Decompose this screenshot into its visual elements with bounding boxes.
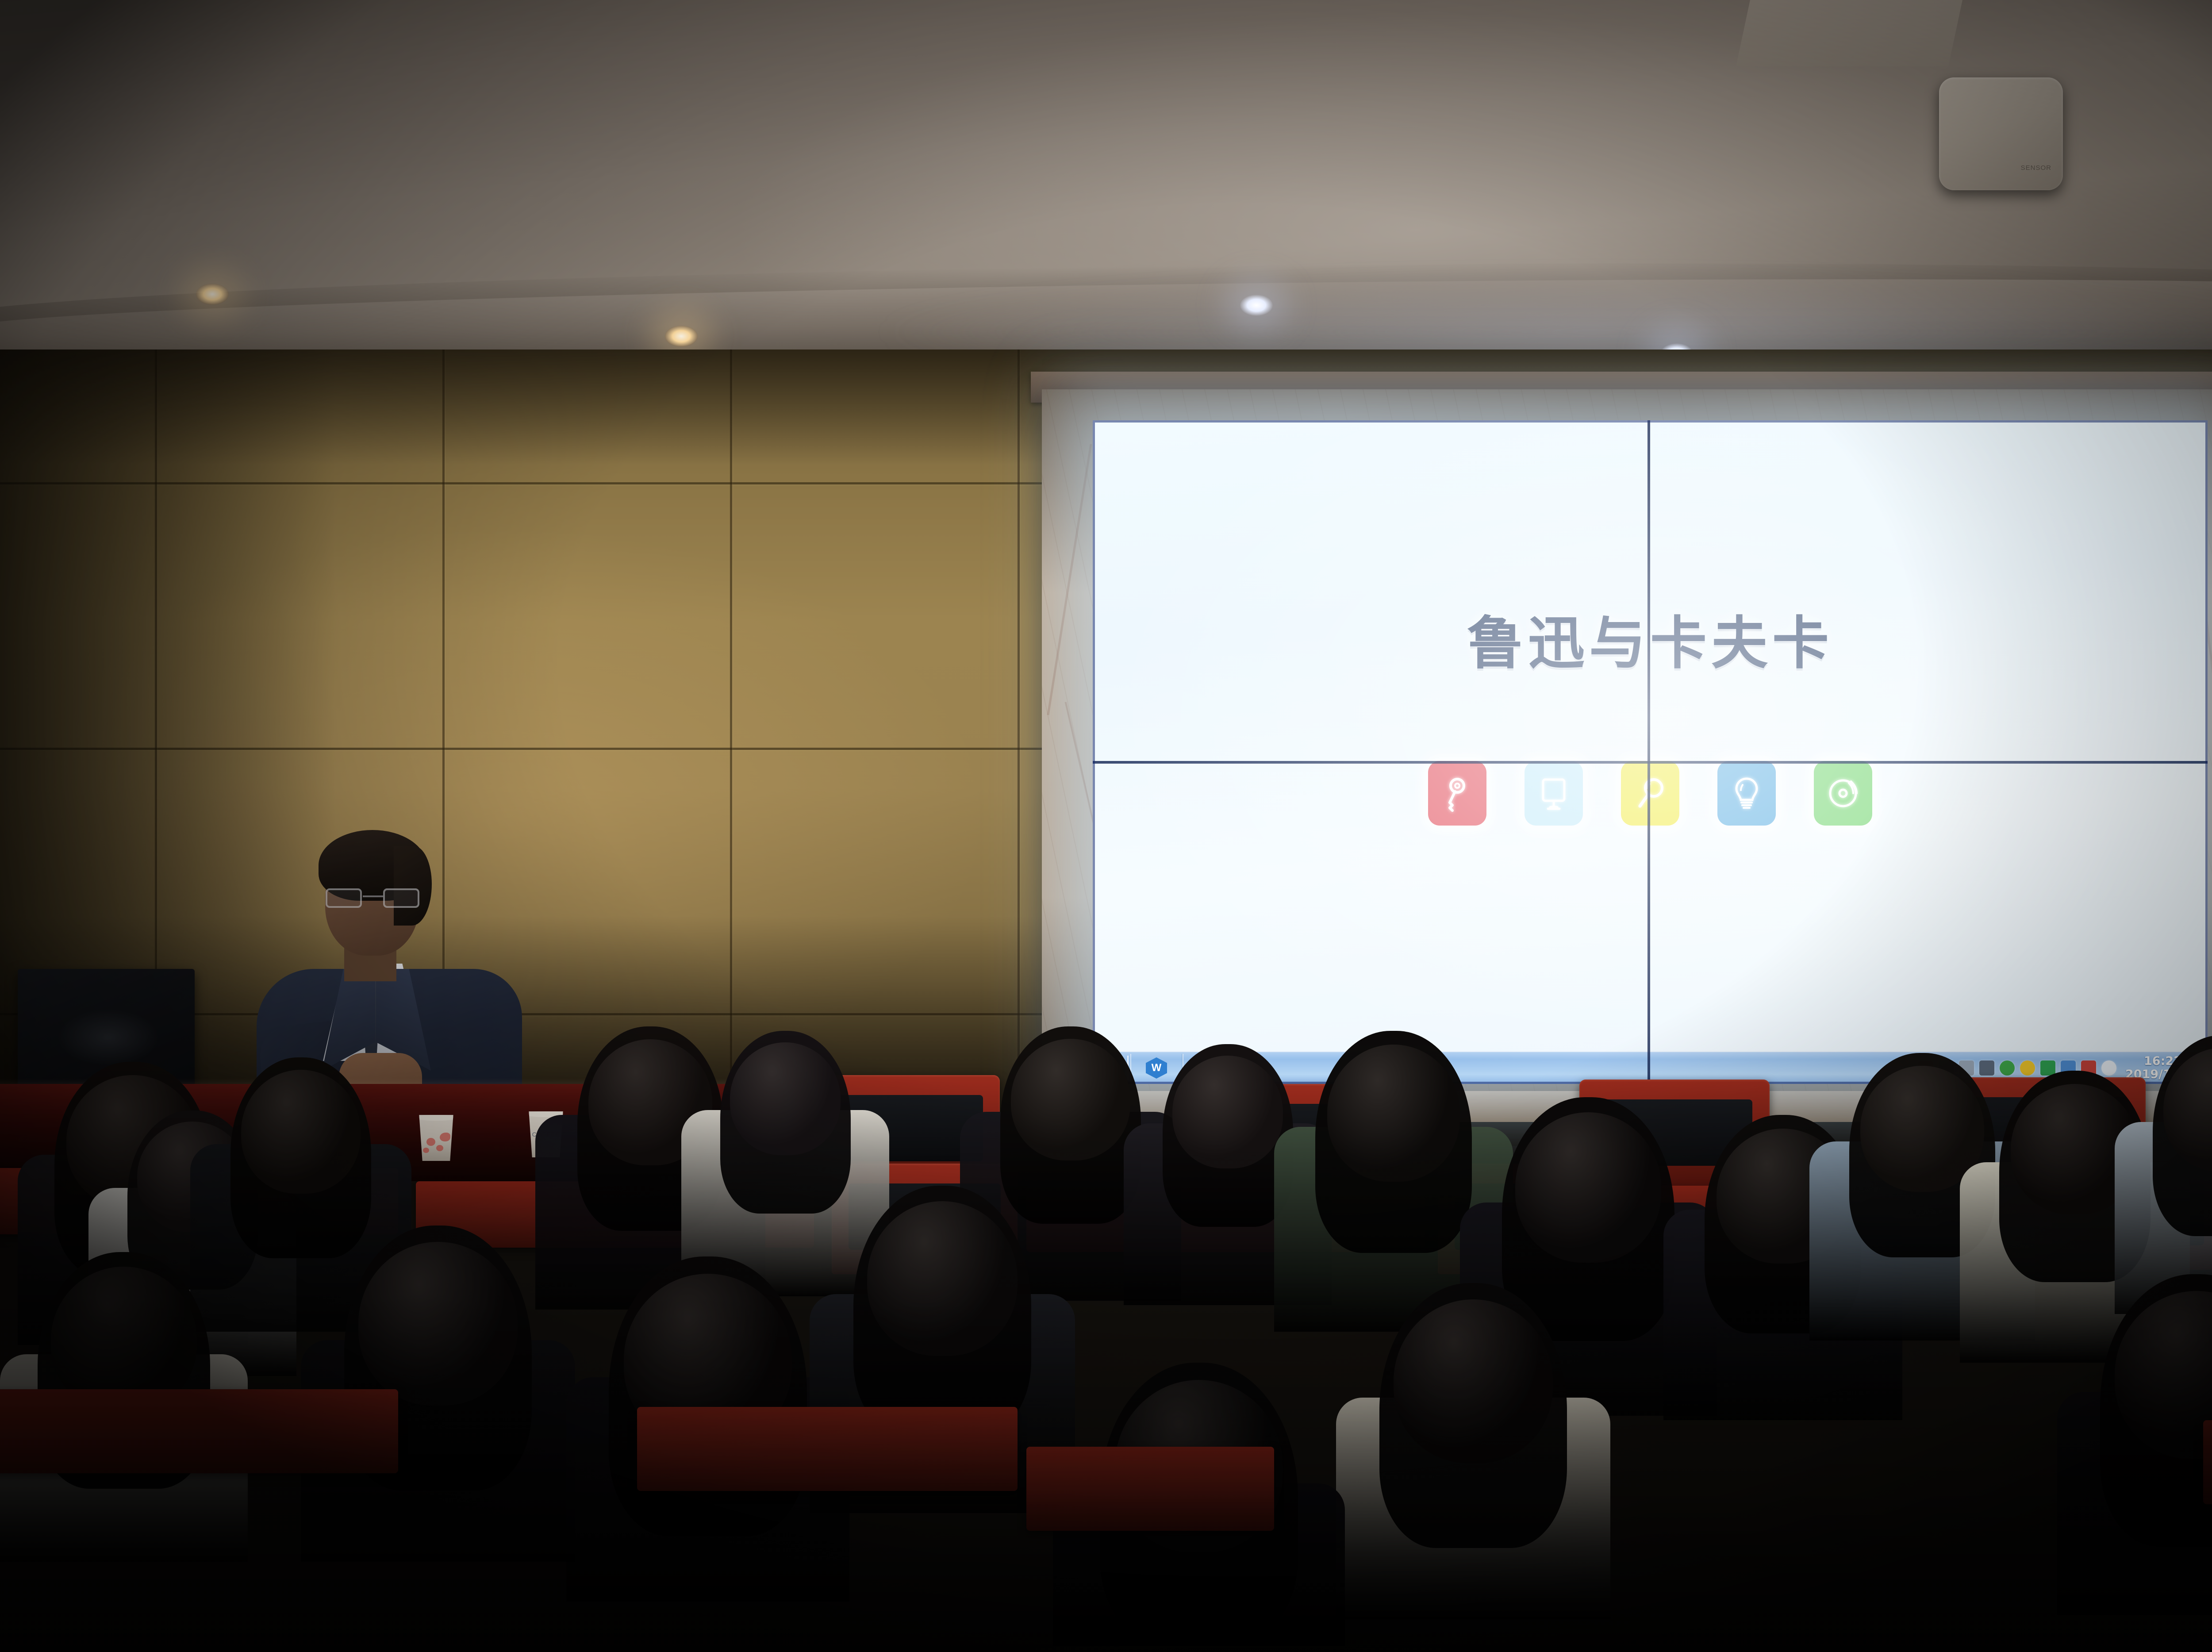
audience-head — [1011, 1039, 1130, 1160]
ceiling-vent — [1736, 0, 1962, 66]
ceiling-downlight — [665, 326, 698, 347]
audience-head — [1515, 1112, 1661, 1263]
audience-member — [1336, 1283, 1610, 1619]
video-wall-edge — [1093, 420, 2208, 1084]
ceiling-downlight — [1240, 295, 1273, 316]
paper-cup-floral — [416, 1115, 457, 1161]
audience-head — [730, 1042, 841, 1155]
audience-head — [1172, 1056, 1283, 1168]
lecture-hall-photo: SENSOR 鲁迅与卡夫卡 — [0, 0, 2212, 1652]
audience-head — [1327, 1045, 1460, 1182]
audience-head — [358, 1242, 518, 1406]
audience-member — [2057, 1274, 2212, 1615]
presenter-glasses-icon — [326, 888, 419, 910]
presenter-hair-side — [394, 846, 432, 926]
audience-head — [1394, 1299, 1553, 1463]
audience-head — [867, 1201, 1018, 1356]
ceiling: SENSOR — [0, 0, 2212, 367]
audience-member — [2115, 1035, 2212, 1314]
ceiling-sensor-label: SENSOR — [2021, 164, 2051, 172]
ceiling-downlight — [196, 284, 229, 305]
audience-head — [241, 1070, 361, 1194]
ceiling-sensor-panel: SENSOR — [1939, 77, 2063, 190]
video-wall-display[interactable]: 鲁迅与卡夫卡 W 16:22 2019/10/17 — [1093, 420, 2208, 1084]
